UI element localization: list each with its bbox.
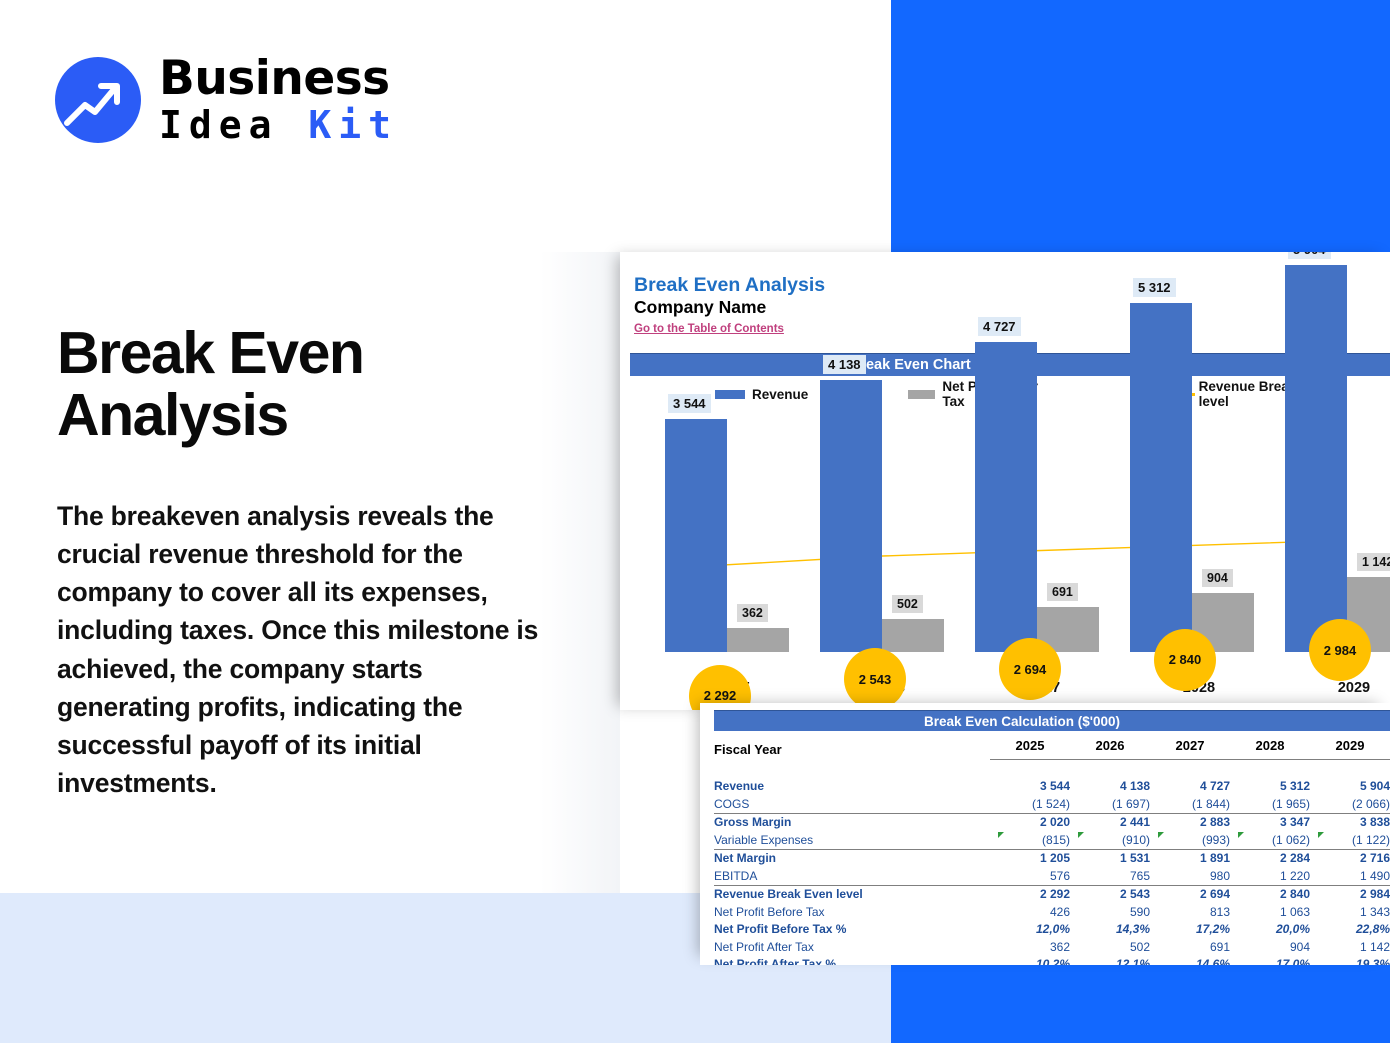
table-cell-2028: 904 — [1230, 938, 1310, 956]
data-label-revenue-2025: 3 544 — [668, 394, 711, 413]
table-row: Revenue3 5444 1384 7275 3125 904 — [714, 778, 1390, 796]
table-of-contents-link[interactable]: Go to the Table of Contents — [634, 323, 784, 335]
background-block-top-right — [891, 0, 1390, 252]
data-label-revenue-2027: 4 727 — [978, 317, 1021, 336]
table-row-label: Variable Expenses — [714, 831, 990, 849]
break-even-calculation-table: Fiscal Year20252026202720282029Revenue3 … — [714, 738, 1390, 965]
table-cell-2028: 2 840 — [1230, 885, 1310, 903]
table-title: Break Even Calculation ($'000) — [714, 710, 1390, 731]
bar-revenue-2026[interactable] — [820, 380, 882, 652]
sheet-title: Break Even Analysis — [634, 274, 1390, 296]
table-cell-2029: 1 343 — [1310, 903, 1390, 921]
table-cell-2028: (1 062) — [1230, 831, 1310, 849]
breakeven-marker-2027[interactable]: 2 694 — [999, 638, 1061, 700]
brand-word-ideakit: Idea Kit — [159, 106, 398, 144]
chart-plot-area: 3 54436220254 13850220264 72769120275 31… — [630, 410, 1390, 710]
table-cell-2029: 22,8% — [1310, 921, 1390, 939]
table-cell-2026: 2 543 — [1070, 885, 1150, 903]
table-body: Fiscal Year20252026202720282029Revenue3 … — [714, 738, 1390, 965]
brand-word-idea: Idea — [159, 103, 279, 147]
table-cell-2025: 12,0% — [990, 921, 1070, 939]
table-cell-2025: (1 524) — [990, 795, 1070, 813]
table-column-header-2029: 2029 — [1310, 738, 1390, 760]
brand-logo: Business Idea Kit — [55, 55, 398, 144]
axis-label-2029: 2029 — [1284, 680, 1390, 696]
table-cell-2025: 1 205 — [990, 849, 1070, 867]
bar-revenue-2028[interactable] — [1130, 303, 1192, 652]
table-row: Net Profit After Tax3625026919041 142 — [714, 938, 1390, 956]
background-block-bottom-right — [891, 965, 1390, 1043]
table-cell-2026: 765 — [1070, 867, 1150, 885]
table-cell-2029: 3 838 — [1310, 813, 1390, 831]
table-column-header-2028: 2028 — [1230, 738, 1310, 760]
table-row-label: EBITDA — [714, 867, 990, 885]
table-row: Variable Expenses(815)(910)(993)(1 062)(… — [714, 831, 1390, 849]
table-cell-2027: 2 883 — [1150, 813, 1230, 831]
page-title: Break Even Analysis — [57, 323, 527, 447]
table-cell-2029: (2 066) — [1310, 795, 1390, 813]
legend-item-revenue[interactable]: Revenue — [715, 387, 808, 402]
table-row: Gross Margin2 0202 4412 8833 3473 838 — [714, 813, 1390, 831]
data-label-revenue-2029: 5 904 — [1288, 252, 1331, 259]
table-cell-2025: (815) — [990, 831, 1070, 849]
table-cell-2028: 1 063 — [1230, 903, 1310, 921]
table-row-label: Gross Margin — [714, 813, 990, 831]
table-row: EBITDA5767659801 2201 490 — [714, 867, 1390, 885]
table-cell-2028: 5 312 — [1230, 778, 1310, 796]
table-cell-2026: 12,1% — [1070, 956, 1150, 966]
table-cell-2026: (1 697) — [1070, 795, 1150, 813]
table-column-header-2025: 2025 — [990, 738, 1070, 760]
table-row-label: Net Profit Before Tax — [714, 903, 990, 921]
data-label-npat-2025: 362 — [737, 604, 768, 622]
table-row: COGS(1 524)(1 697)(1 844)(1 965)(2 066) — [714, 795, 1390, 813]
table-cell-2027: 691 — [1150, 938, 1230, 956]
bar-revenue-2025[interactable] — [665, 419, 727, 652]
table-cell-2026: 2 441 — [1070, 813, 1150, 831]
table-row: Revenue Break Even level2 2922 5432 6942… — [714, 885, 1390, 903]
breakeven-marker-2026[interactable]: 2 543 — [844, 648, 906, 710]
bar-npat-2025[interactable] — [727, 628, 789, 652]
table-cell-2025: 2 020 — [990, 813, 1070, 831]
breakeven-marker-2029[interactable]: 2 984 — [1309, 619, 1371, 681]
table-column-header-2027: 2027 — [1150, 738, 1230, 760]
data-label-npat-2029: 1 142 — [1357, 553, 1390, 571]
table-row-label: Net Margin — [714, 849, 990, 867]
table-cell-2027: 813 — [1150, 903, 1230, 921]
table-cell-2025: 2 292 — [990, 885, 1070, 903]
table-spacer — [714, 760, 1390, 778]
data-label-npat-2026: 502 — [892, 595, 923, 613]
table-cell-2027: 2 694 — [1150, 885, 1230, 903]
table-cell-2028: 20,0% — [1230, 921, 1310, 939]
table-cell-2027: 14,6% — [1150, 956, 1230, 966]
table-cell-2028: 17,0% — [1230, 956, 1310, 966]
table-cell-2027: 1 891 — [1150, 849, 1230, 867]
data-label-revenue-2026: 4 138 — [823, 355, 866, 374]
table-row-label: Revenue Break Even level — [714, 885, 990, 903]
table-cell-2025: 362 — [990, 938, 1070, 956]
table-cell-2025: 10,2% — [990, 956, 1070, 966]
chart-group-2025: 3 5443622025 — [665, 410, 805, 710]
bar-revenue-2029[interactable] — [1285, 265, 1347, 652]
background-gradient-strip — [540, 252, 620, 893]
table-cell-2027: (993) — [1150, 831, 1230, 849]
calculation-table-panel: Break Even Calculation ($'000) Fiscal Ye… — [700, 703, 1390, 965]
table-cell-2029: 19,3% — [1310, 956, 1390, 966]
data-label-npat-2028: 904 — [1202, 569, 1233, 587]
table-row-header-label: Fiscal Year — [714, 738, 990, 760]
table-header-row: Fiscal Year20252026202720282029 — [714, 738, 1390, 760]
table-cell-2026: 502 — [1070, 938, 1150, 956]
table-row-label: Net Profit Before Tax % — [714, 921, 990, 939]
table-cell-2028: (1 965) — [1230, 795, 1310, 813]
brand-word-business: Business — [159, 55, 398, 102]
table-cell-2029: (1 122) — [1310, 831, 1390, 849]
data-label-npat-2027: 691 — [1047, 583, 1078, 601]
table-row: Net Profit After Tax %10,2%12,1%14,6%17,… — [714, 956, 1390, 966]
brand-wordmark: Business Idea Kit — [159, 55, 398, 144]
table-cell-2029: 5 904 — [1310, 778, 1390, 796]
table-cell-2027: 980 — [1150, 867, 1230, 885]
legend-label-revenue: Revenue — [752, 387, 808, 402]
table-row-label: Net Profit After Tax — [714, 938, 990, 956]
bar-revenue-2027[interactable] — [975, 342, 1037, 652]
table-cell-2029: 1 490 — [1310, 867, 1390, 885]
table-cell-2026: 590 — [1070, 903, 1150, 921]
table-cell-2029: 1 142 — [1310, 938, 1390, 956]
table-cell-2026: 1 531 — [1070, 849, 1150, 867]
table-cell-2028: 1 220 — [1230, 867, 1310, 885]
table-cell-2027: 17,2% — [1150, 921, 1230, 939]
table-row: Net Margin1 2051 5311 8912 2842 716 — [714, 849, 1390, 867]
bar-npat-2026[interactable] — [882, 619, 944, 652]
table-row-label: COGS — [714, 795, 990, 813]
table-cell-2027: (1 844) — [1150, 795, 1230, 813]
page-description: The breakeven analysis reveals the cruci… — [57, 497, 539, 802]
table-cell-2025: 3 544 — [990, 778, 1070, 796]
table-cell-2026: (910) — [1070, 831, 1150, 849]
data-label-revenue-2028: 5 312 — [1133, 278, 1176, 297]
table-cell-2025: 426 — [990, 903, 1070, 921]
table-cell-2029: 2 716 — [1310, 849, 1390, 867]
table-row-label: Net Profit After Tax % — [714, 956, 990, 966]
table-row: Net Profit Before Tax4265908131 0631 343 — [714, 903, 1390, 921]
legend-swatch-npat-icon — [908, 390, 935, 399]
legend-swatch-revenue-icon — [715, 390, 745, 399]
brand-word-kit: Kit — [308, 103, 398, 147]
table-cell-2028: 2 284 — [1230, 849, 1310, 867]
table-row-label: Revenue — [714, 778, 990, 796]
table-cell-2026: 4 138 — [1070, 778, 1150, 796]
table-cell-2026: 14,3% — [1070, 921, 1150, 939]
table-cell-2029: 2 984 — [1310, 885, 1390, 903]
growth-arrow-icon — [55, 57, 141, 143]
breakeven-marker-2028[interactable]: 2 840 — [1154, 629, 1216, 691]
table-row: Net Profit Before Tax %12,0%14,3%17,2%20… — [714, 921, 1390, 939]
table-cell-2028: 3 347 — [1230, 813, 1310, 831]
table-column-header-2026: 2026 — [1070, 738, 1150, 760]
chart-sheet-panel: Break Even Analysis Company Name Go to t… — [620, 252, 1390, 710]
table-cell-2027: 4 727 — [1150, 778, 1230, 796]
table-cell-2025: 576 — [990, 867, 1070, 885]
